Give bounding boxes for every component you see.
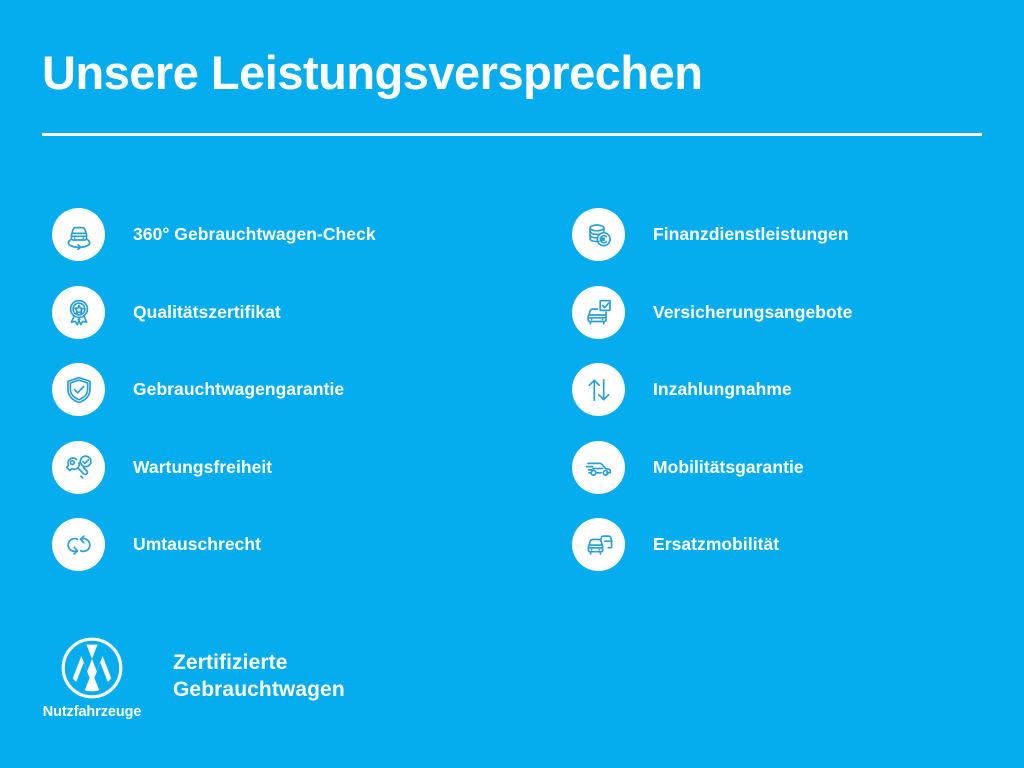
brand-mark: Nutzfahrzeuge [42, 636, 142, 720]
feature-icon-badge [572, 208, 625, 261]
features-column-left: 360° Gebrauchtwagen-Check Qualitätsz [0, 196, 512, 584]
feature-label: Gebrauchtwagengarantie [133, 379, 344, 400]
title-divider [42, 133, 982, 136]
features-grid: 360° Gebrauchtwagen-Check Qualitätsz [0, 196, 1024, 584]
brand-subbrand-label: Nutzfahrzeuge [43, 704, 142, 720]
award-rosette-icon [63, 296, 95, 328]
feature-item-exchange-right[interactable]: Umtauschrecht [52, 506, 512, 584]
wrench-check-icon [63, 451, 95, 483]
feature-item-warranty[interactable]: Gebrauchtwagengarantie [52, 351, 512, 429]
feature-label: Versicherungsangebote [653, 302, 852, 323]
brand-claim: Zertifizierte Gebrauchtwagen [173, 650, 345, 704]
features-column-right: Finanzdienstleistungen [512, 196, 1024, 584]
coins-euro-icon [583, 219, 615, 251]
feature-icon-badge [572, 441, 625, 494]
feature-icon-badge [52, 286, 105, 339]
feature-item-mobility-guarantee[interactable]: Mobilitätsgarantie [572, 429, 1024, 507]
feature-icon-badge [572, 518, 625, 571]
feature-icon-badge [52, 441, 105, 494]
feature-icon-badge [52, 208, 105, 261]
exchange-arrows-icon [63, 529, 95, 561]
feature-label: Umtauschrecht [133, 534, 261, 555]
feature-label: Ersatzmobilität [653, 534, 779, 555]
feature-item-financial-services[interactable]: Finanzdienstleistungen [572, 196, 1024, 274]
feature-icon-badge [572, 286, 625, 339]
feature-label: Mobilitätsgarantie [653, 457, 804, 478]
feature-label: Finanzdienstleistungen [653, 224, 849, 245]
slide-root: Unsere Leistungsversprechen [0, 0, 1024, 768]
feature-label: Inzahlungnahme [653, 379, 792, 400]
shield-check-icon [63, 374, 95, 406]
feature-item-trade-in[interactable]: Inzahlungnahme [572, 351, 1024, 429]
feature-icon-badge [52, 518, 105, 571]
feature-item-quality-certificate[interactable]: Qualitätszertifikat [52, 274, 512, 352]
page-title: Unsere Leistungsversprechen [42, 48, 702, 97]
brand-claim-line-1: Zertifizierte [173, 650, 345, 677]
feature-label: Wartungsfreiheit [133, 457, 272, 478]
feature-icon-badge [572, 363, 625, 416]
feature-item-insurance-offers[interactable]: Versicherungsangebote [572, 274, 1024, 352]
volkswagen-logo-icon [60, 636, 124, 700]
feature-icon-badge [52, 363, 105, 416]
car-checkbox-icon [583, 296, 615, 328]
up-down-arrows-icon [583, 374, 615, 406]
feature-label: 360° Gebrauchtwagen-Check [133, 224, 376, 245]
car-speed-lines-icon [583, 451, 615, 483]
brand-lockup: Nutzfahrzeuge Zertifizierte Gebrauchtwag… [42, 636, 345, 720]
feature-item-maintenance-free[interactable]: Wartungsfreiheit [52, 429, 512, 507]
brand-claim-line-2: Gebrauchtwagen [173, 677, 345, 704]
car-360-check-icon [63, 219, 95, 251]
feature-item-360-check[interactable]: 360° Gebrauchtwagen-Check [52, 196, 512, 274]
two-cars-icon [583, 529, 615, 561]
feature-label: Qualitätszertifikat [133, 302, 281, 323]
feature-item-replacement-mobility[interactable]: Ersatzmobilität [572, 506, 1024, 584]
